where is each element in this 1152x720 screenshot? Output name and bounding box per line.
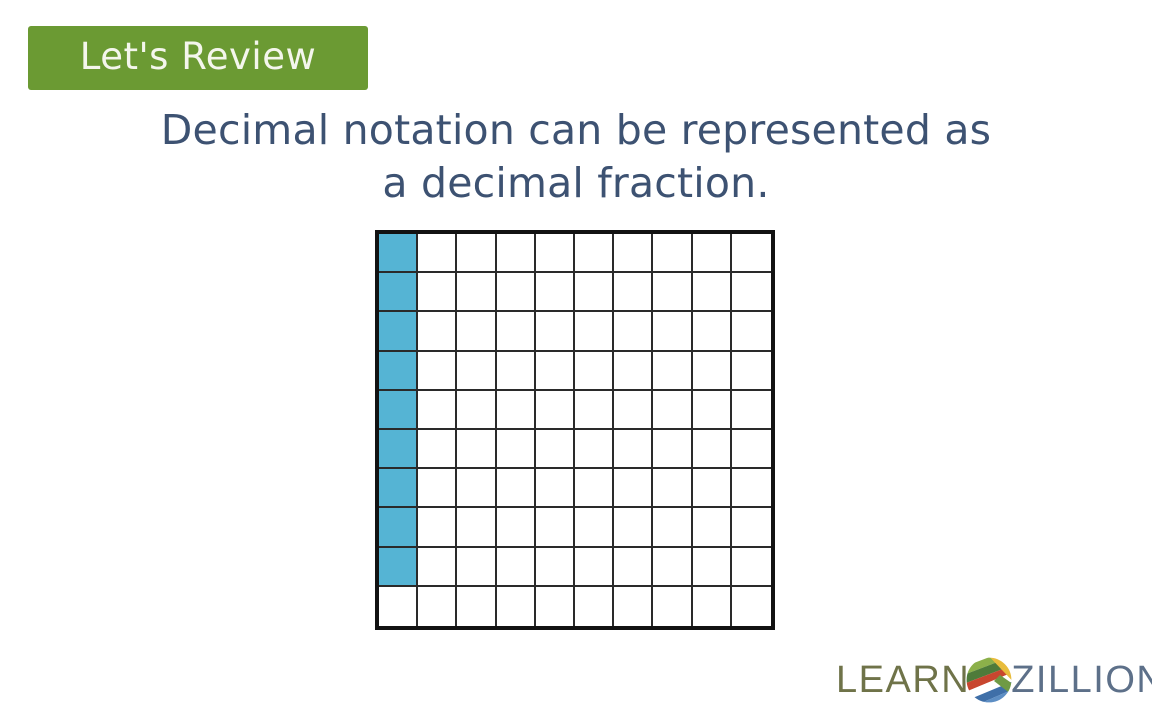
grid-cell xyxy=(497,312,536,351)
grid-cell xyxy=(575,508,614,547)
decimal-hundredths-grid xyxy=(375,230,775,630)
grid-cell xyxy=(614,391,653,430)
grid-cell xyxy=(379,391,418,430)
grid-cell xyxy=(497,234,536,273)
grid-cell xyxy=(653,469,692,508)
grid-cell xyxy=(732,273,771,312)
grid-cell xyxy=(457,234,496,273)
grid-cell xyxy=(418,391,457,430)
grid-cell xyxy=(653,234,692,273)
lets-review-banner: Let's Review xyxy=(28,26,368,90)
grid-cell xyxy=(536,469,575,508)
grid-cell xyxy=(614,508,653,547)
grid-cell xyxy=(693,548,732,587)
grid-cell xyxy=(614,548,653,587)
grid-cell xyxy=(653,312,692,351)
grid-cell xyxy=(536,587,575,626)
grid-cell xyxy=(732,234,771,273)
grid-cell xyxy=(575,352,614,391)
grid-cell xyxy=(732,587,771,626)
grid-cell xyxy=(418,312,457,351)
grid-cell xyxy=(379,587,418,626)
grid-cell xyxy=(653,352,692,391)
grid-cell xyxy=(732,548,771,587)
grid-cell xyxy=(653,508,692,547)
grid-cell xyxy=(418,548,457,587)
grid-cell xyxy=(536,312,575,351)
grid-cell xyxy=(575,391,614,430)
grid-cell xyxy=(418,352,457,391)
grid-cell xyxy=(457,273,496,312)
title-line-2: a decimal fraction. xyxy=(0,157,1152,210)
grid-cell xyxy=(457,587,496,626)
learnzillion-logo: LEARN ZILLION xyxy=(836,652,1136,708)
grid-cell xyxy=(575,587,614,626)
grid-cell xyxy=(693,391,732,430)
grid-cell xyxy=(653,430,692,469)
grid-cell xyxy=(497,587,536,626)
logo-word-zillion: ZILLION xyxy=(1011,661,1152,699)
grid-cell xyxy=(614,352,653,391)
grid-cell xyxy=(575,548,614,587)
grid-cell xyxy=(693,587,732,626)
grid-cell xyxy=(418,587,457,626)
grid-cell xyxy=(457,469,496,508)
grid-cell xyxy=(379,430,418,469)
grid-cell xyxy=(614,234,653,273)
grid-cell xyxy=(379,234,418,273)
grid-cell xyxy=(497,352,536,391)
grid-cell xyxy=(379,548,418,587)
grid-cell xyxy=(693,430,732,469)
globe-icon xyxy=(964,655,1014,705)
grid-cell xyxy=(536,391,575,430)
grid-cell xyxy=(536,273,575,312)
grid-cell xyxy=(457,391,496,430)
grid-cell xyxy=(457,548,496,587)
grid-cell xyxy=(418,273,457,312)
grid-cell xyxy=(418,469,457,508)
grid-cell xyxy=(497,273,536,312)
grid-cell xyxy=(693,508,732,547)
slide-canvas: Let's Review Decimal notation can be rep… xyxy=(0,0,1152,720)
grid-cells-container xyxy=(379,234,771,626)
grid-cell xyxy=(732,430,771,469)
grid-cell xyxy=(457,430,496,469)
grid-cell xyxy=(536,234,575,273)
grid-cell xyxy=(497,548,536,587)
grid-cell xyxy=(693,469,732,508)
grid-cell xyxy=(614,273,653,312)
title-line-1: Decimal notation can be represented as xyxy=(0,104,1152,157)
grid-cell xyxy=(379,352,418,391)
grid-cell xyxy=(653,587,692,626)
grid-cell xyxy=(497,508,536,547)
grid-cell xyxy=(536,508,575,547)
grid-cell xyxy=(693,273,732,312)
grid-cell xyxy=(418,234,457,273)
grid-cell xyxy=(379,508,418,547)
grid-cell xyxy=(732,469,771,508)
grid-cell xyxy=(732,312,771,351)
grid-cell xyxy=(614,469,653,508)
grid-cell xyxy=(575,469,614,508)
grid-cell xyxy=(575,234,614,273)
grid-cell xyxy=(536,430,575,469)
grid-cell xyxy=(693,234,732,273)
grid-cell xyxy=(418,430,457,469)
grid-cell xyxy=(732,508,771,547)
grid-cell xyxy=(379,469,418,508)
lets-review-label: Let's Review xyxy=(80,38,316,78)
grid-cell xyxy=(693,312,732,351)
grid-cell xyxy=(653,273,692,312)
grid-cell xyxy=(575,430,614,469)
grid-cell xyxy=(614,587,653,626)
grid-cell xyxy=(653,391,692,430)
grid-cell xyxy=(536,352,575,391)
grid-cell xyxy=(693,352,732,391)
grid-cell xyxy=(614,312,653,351)
grid-cell xyxy=(614,430,653,469)
grid-cell xyxy=(497,391,536,430)
grid-cell xyxy=(653,548,692,587)
grid-cell xyxy=(732,352,771,391)
grid-cell xyxy=(379,273,418,312)
grid-cell xyxy=(575,312,614,351)
grid-cell xyxy=(497,469,536,508)
grid-cell xyxy=(457,508,496,547)
grid-cell xyxy=(379,312,418,351)
slide-title: Decimal notation can be represented as a… xyxy=(0,104,1152,210)
grid-cell xyxy=(575,273,614,312)
grid-cell xyxy=(457,312,496,351)
grid-cell xyxy=(418,508,457,547)
grid-cell xyxy=(497,430,536,469)
grid-cell xyxy=(536,548,575,587)
grid-cell xyxy=(457,352,496,391)
grid-cell xyxy=(732,391,771,430)
logo-word-learn: LEARN xyxy=(836,661,970,699)
